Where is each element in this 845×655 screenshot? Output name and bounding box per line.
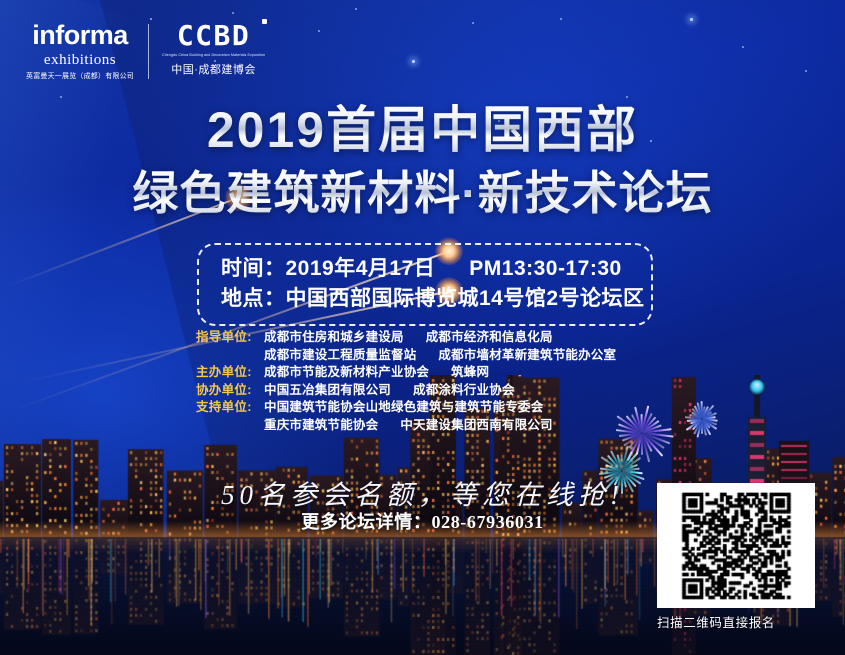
- organizer-row: 重庆市建筑节能协会中天建设集团西南有限公司: [196, 417, 666, 435]
- ccbd-chinese-name: 中国·成都建博会: [162, 61, 265, 77]
- star-icon: [805, 70, 807, 72]
- star-icon: [560, 18, 562, 20]
- organizer-row: 指导单位:成都市住房和城乡建设局成都市经济和信息化局: [196, 329, 666, 347]
- organizer-value: 成都市建设工程质量监督站成都市墙材革新建筑节能办公室: [264, 347, 616, 365]
- qr-code[interactable]: [657, 483, 815, 608]
- place-value: 中国西部国际博览城14号馆2号论坛区: [286, 284, 645, 314]
- star-icon: [318, 30, 320, 32]
- informa-wordmark: informa: [26, 22, 134, 49]
- qr-caption: 扫描二维码直接报名: [657, 612, 815, 631]
- informa-logo: informa exhibitions 英富曼天一展览（成都）有限公司: [26, 22, 148, 81]
- light-band: [60, 0, 700, 655]
- organizer-row: 主办单位:成都市节能及新材料产业协会筑蜂网: [196, 364, 666, 382]
- time-date: 2019年4月17日: [286, 254, 436, 284]
- organizer-value: 成都市节能及新材料产业协会筑蜂网: [264, 364, 489, 382]
- star-icon: [150, 18, 152, 20]
- organizer-row: 支持单位:中国建筑节能协会山地绿色建筑与建筑节能专委会: [196, 399, 666, 417]
- organizer-value: 重庆市建筑节能协会中天建设集团西南有限公司: [264, 417, 553, 435]
- place-label: 地点：: [221, 284, 286, 314]
- informa-subtitle: exhibitions: [26, 51, 134, 70]
- organizer-label: 支持单位:: [196, 399, 264, 417]
- organizer-value: 中国建筑节能协会山地绿色建筑与建筑节能专委会: [264, 399, 543, 417]
- organizer-label: 主办单位:: [196, 364, 264, 382]
- organizer-list: 指导单位:成都市住房和城乡建设局成都市经济和信息化局成都市建设工程质量监督站成都…: [196, 329, 666, 435]
- star-icon: [742, 46, 744, 48]
- firework-burst-icon: [620, 470, 622, 472]
- organizer-row: 协办单位:中国五冶集团有限公司成都涂料行业协会: [196, 382, 666, 400]
- qr-section: 扫描二维码直接报名: [657, 483, 815, 631]
- logo-divider: [148, 24, 149, 79]
- star-icon: [232, 12, 234, 14]
- star-icon: [60, 96, 62, 98]
- organizer-value: 成都市住房和城乡建设局成都市经济和信息化局: [264, 329, 553, 347]
- page-title: 2019首届中国西部 绿色建筑新材料·新技术论坛: [0, 103, 845, 219]
- organizer-label: 指导单位:: [196, 329, 264, 347]
- star-icon: [626, 96, 628, 98]
- star-icon: [355, 8, 357, 10]
- organizer-label: 协办单位:: [196, 382, 264, 400]
- title-line-2: 绿色建筑新材料·新技术论坛: [0, 169, 845, 219]
- organizer-value: 中国五冶集团有限公司成都涂料行业协会: [264, 382, 515, 400]
- ccbd-wordmark: CCBD: [162, 22, 265, 50]
- ccbd-dot-icon: [262, 19, 267, 24]
- time-range: PM13:30-17:30: [469, 254, 621, 284]
- logo-bar: informa exhibitions 英富曼天一展览（成都）有限公司 CCBD…: [26, 22, 265, 81]
- star-icon: [412, 60, 415, 63]
- ccbd-english-name: Chengdu China Building and Decoration Ma…: [162, 53, 265, 58]
- light-band: [0, 0, 148, 655]
- firework-burst-icon: [700, 418, 702, 420]
- star-icon: [472, 22, 474, 24]
- organizer-row: 成都市建设工程质量监督站成都市墙材革新建筑节能办公室: [196, 347, 666, 365]
- event-details-box: 时间： 2019年4月17日 PM13:30-17:30 地点： 中国西部国际博…: [197, 243, 653, 326]
- event-time-row: 时间： 2019年4月17日 PM13:30-17:30: [199, 254, 651, 284]
- star-icon: [690, 18, 693, 21]
- light-band: [0, 0, 167, 655]
- ccbd-logo: CCBD Chengdu China Building and Decorati…: [162, 22, 265, 77]
- time-label: 时间：: [221, 254, 286, 284]
- event-poster: informa exhibitions 英富曼天一展览（成都）有限公司 CCBD…: [0, 0, 845, 655]
- event-place-row: 地点： 中国西部国际博览城14号馆2号论坛区: [199, 284, 651, 314]
- title-line-1: 2019首届中国西部: [0, 103, 845, 157]
- informa-company-cn: 英富曼天一展览（成都）有限公司: [26, 73, 134, 81]
